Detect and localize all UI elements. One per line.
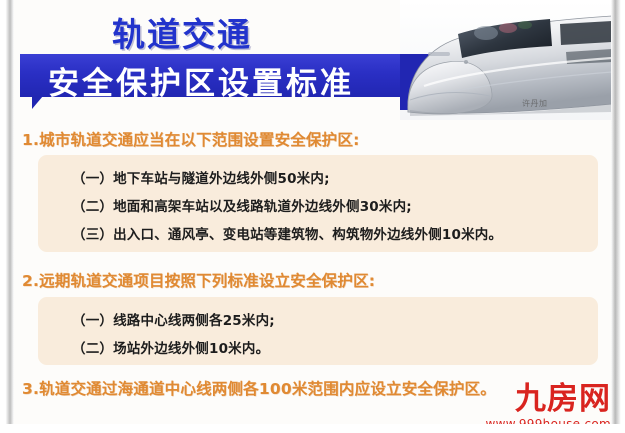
poster-title-primary: 轨道交通 xyxy=(112,8,252,56)
train-photo xyxy=(400,0,612,120)
section-1-item-2: （二）地面和高架车站以及线路轨道外边线外侧30米内; xyxy=(72,195,412,215)
watermark-brand: 九房网 xyxy=(421,384,611,416)
photo-credit-caption: 许丹加 xyxy=(522,98,548,109)
train-side-window xyxy=(560,21,612,45)
page-edge-bottom xyxy=(0,424,625,433)
poster-image: 轨道交通 安全保护区设置标准 xyxy=(0,0,625,433)
section-2-items-box: （一）线路中心线两侧各25米内; （二）场站外边线外侧10米内。 xyxy=(38,297,598,365)
section-heading-2: 2.远期轨道交通项目按照下列标准设立安全保护区: xyxy=(22,269,375,291)
poster-content: 1.城市轨道交通应当在以下范围设置安全保护区: （一）地下车站与隧道外边线外侧5… xyxy=(16,112,610,424)
page-edge-left xyxy=(0,0,14,433)
high-speed-train-illustration xyxy=(400,0,612,120)
section-2-item-2: （二）场站外边线外侧10米内。 xyxy=(72,337,269,357)
poster-title-secondary: 安全保护区设置标准 xyxy=(48,58,354,103)
section-1-item-1: （一）地下车站与隧道外边线外侧50米内; xyxy=(72,167,330,187)
section-2-item-1: （一）线路中心线两侧各25米内; xyxy=(72,309,275,329)
section-heading-1: 1.城市轨道交通应当在以下范围设置安全保护区: xyxy=(22,128,359,150)
section-1-items-box: （一）地下车站与隧道外边线外侧50米内; （二）地面和高架车站以及线路轨道外边线… xyxy=(38,155,598,252)
section-1-item-3: （三）出入口、通风亭、变电站等建筑物、构筑物外边线外侧10米内。 xyxy=(72,223,502,243)
page-edge-right xyxy=(611,0,625,433)
